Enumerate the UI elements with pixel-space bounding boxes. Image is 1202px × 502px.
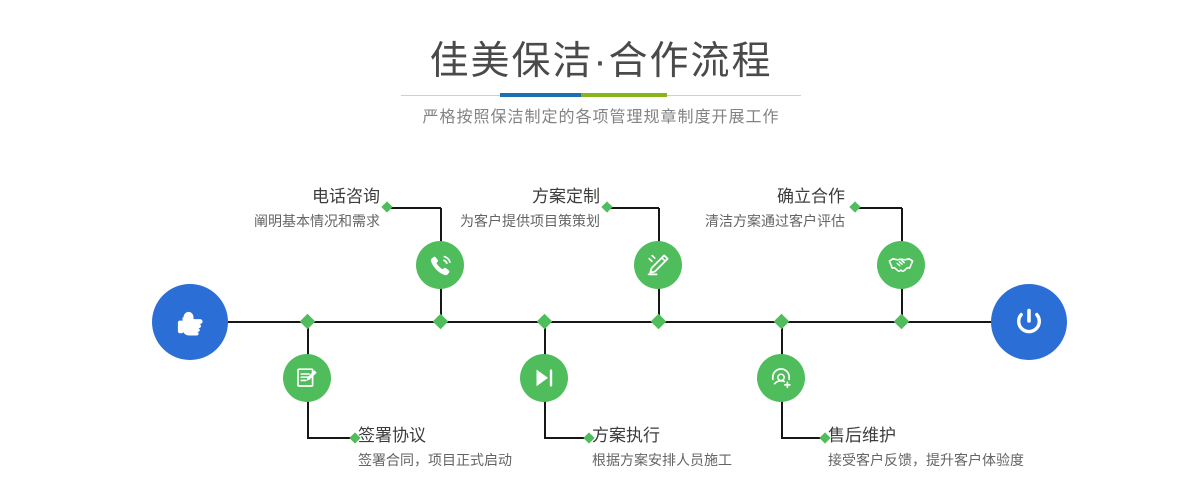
step-desc-3: 为客户提供项目策策划: [400, 211, 600, 231]
label-marker-step-5: [849, 201, 860, 212]
power-icon: [1008, 301, 1050, 343]
step-title-2: 签署协议: [358, 425, 598, 447]
step-title-4: 方案执行: [592, 425, 822, 447]
connector-horizontal-step-2: [307, 437, 354, 439]
phone-call-icon: [426, 251, 454, 279]
label-marker-step-3: [601, 201, 612, 212]
step-desc-2: 签署合同，项目正式启动: [358, 450, 598, 470]
axis-marker-step-2: [300, 314, 316, 330]
timeline-end-node[interactable]: [991, 284, 1067, 360]
step-icon-2[interactable]: [283, 354, 331, 402]
page-title: 佳美保洁·合作流程: [0, 38, 1202, 86]
step-label-5: 确立合作 清洁方案通过客户评估: [645, 186, 845, 231]
step-icon-5[interactable]: [877, 241, 925, 289]
axis-marker-step-6: [774, 314, 790, 330]
step-desc-4: 根据方案安排人员施工: [592, 450, 822, 470]
timeline-start-node[interactable]: [152, 284, 228, 360]
step-icon-6[interactable]: [757, 354, 805, 402]
connector-horizontal-step-5: [855, 207, 902, 209]
step-label-6: 售后维护 接受客户反馈，提升客户体验度: [828, 425, 1088, 470]
step-desc-6: 接受客户反馈，提升客户体验度: [828, 450, 1088, 470]
process-flow-infographic: 佳美保洁·合作流程 严格按照保洁制定的各项管理规章制度开展工作: [0, 0, 1202, 502]
axis-marker-step-4: [537, 314, 553, 330]
pencil-design-icon: [644, 251, 672, 279]
axis-marker-step-1: [433, 314, 449, 330]
step-desc-1: 阐明基本情况和需求: [183, 211, 380, 231]
step-title-5: 确立合作: [645, 186, 845, 208]
pointing-hand-icon: [170, 302, 210, 342]
support-agent-icon: [768, 365, 794, 391]
label-marker-step-1: [381, 201, 392, 212]
step-label-3: 方案定制 为客户提供项目策策划: [400, 186, 600, 231]
step-label-2: 签署协议 签署合同，项目正式启动: [358, 425, 598, 470]
step-icon-3[interactable]: [634, 241, 682, 289]
step-label-1: 电话咨询 阐明基本情况和需求: [183, 186, 380, 231]
divider-segment-green: [581, 93, 667, 97]
step-title-1: 电话咨询: [183, 186, 380, 208]
step-desc-5: 清洁方案通过客户评估: [645, 211, 845, 231]
step-label-4: 方案执行 根据方案安排人员施工: [592, 425, 822, 470]
step-icon-4[interactable]: [520, 354, 568, 402]
document-edit-icon: [294, 365, 320, 391]
axis-marker-step-3: [651, 314, 667, 330]
divider-segment-blue: [500, 93, 581, 97]
step-icon-1[interactable]: [416, 241, 464, 289]
play-execute-icon: [531, 365, 557, 391]
handshake-icon: [887, 251, 915, 279]
axis-marker-step-5: [894, 314, 910, 330]
step-title-6: 售后维护: [828, 425, 1088, 447]
page-subtitle: 严格按照保洁制定的各项管理规章制度开展工作: [0, 106, 1202, 130]
step-title-3: 方案定制: [400, 186, 600, 208]
title-divider: [401, 93, 801, 97]
